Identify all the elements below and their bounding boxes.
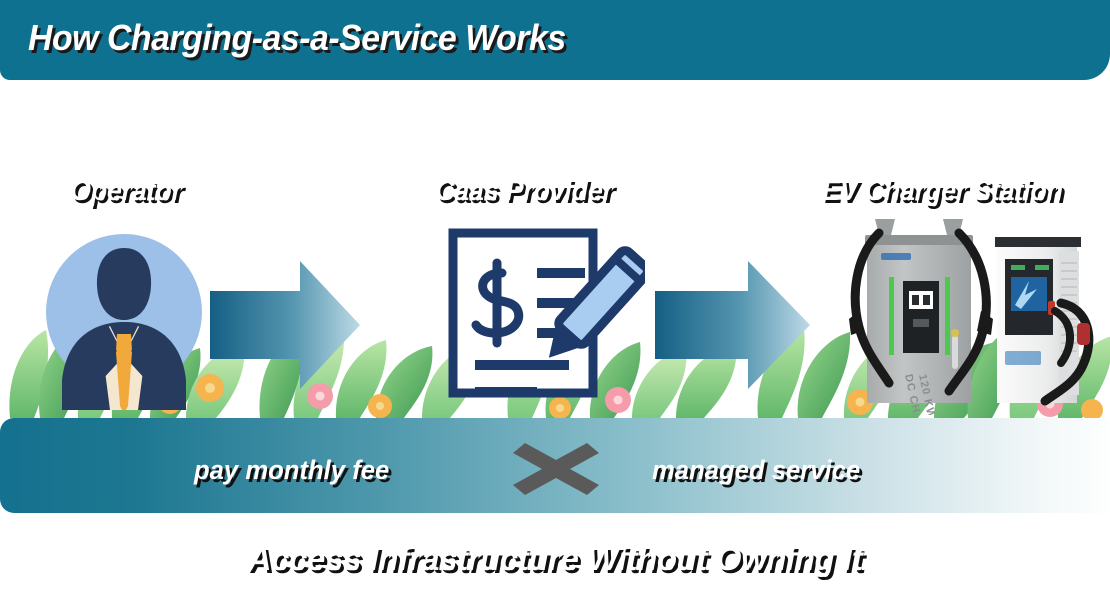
cross-x-icon [513, 443, 599, 495]
node-label-ev-charger-station: EV Charger Station [822, 175, 1063, 208]
header-bar: How Charging-as-a-Service Works [0, 0, 1110, 80]
arrow-operator-to-provider [210, 255, 360, 395]
banner-left-text: pay monthly fee [194, 455, 389, 486]
operator-avatar [40, 230, 225, 410]
infographic-canvas: 120 KW DC CHARGE How Charging-as-a-Servi… [0, 0, 1110, 600]
ev-charger-station-icon: 120 KW DC CHARGE [845, 215, 1110, 415]
arrow-provider-to-station [655, 255, 810, 395]
tagline-text: Access Infrastructure Without Owning It [0, 540, 1110, 578]
page-title: How Charging-as-a-Service Works [28, 17, 566, 59]
node-label-operator: Operator [70, 175, 182, 208]
contract-document-pen-icon [445, 225, 645, 410]
node-label-caas-provider: Caas Provider [435, 175, 613, 208]
banner-right-text: managed service [652, 455, 860, 486]
